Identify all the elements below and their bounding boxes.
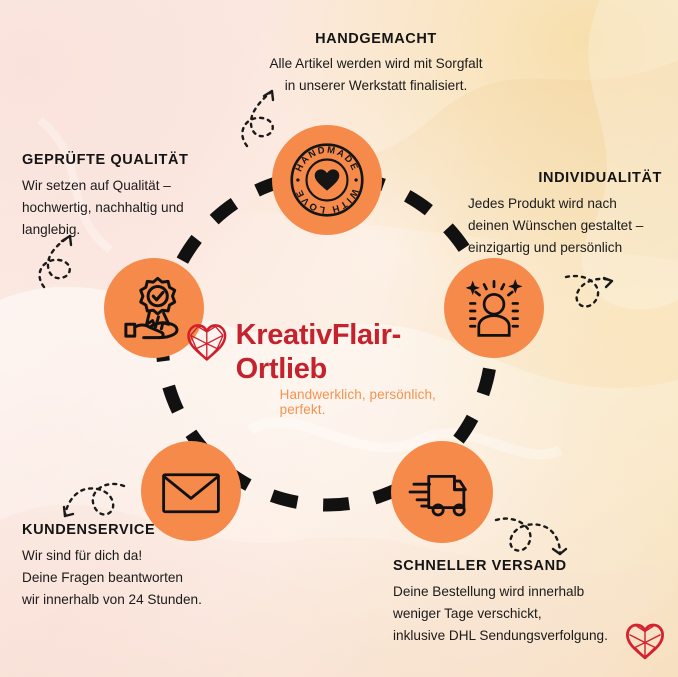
feature-text-gepruefte-qualitaet: GEPRÜFTE QUALITÄT Wir setzen auf Qualitä…	[22, 152, 252, 241]
badge-bottom-text: WITH LOVE	[293, 187, 361, 216]
infographic-canvas: HANDMADE WITH LOVE	[0, 0, 678, 677]
envelope-icon	[154, 454, 228, 528]
doodle-arrow-qualitaet	[40, 236, 70, 287]
feature-line: Wir setzen auf Qualität –	[22, 175, 252, 197]
feature-circle-handgemacht[interactable]: HANDMADE WITH LOVE	[272, 125, 382, 235]
feature-line: Wir sind für dich da!	[22, 545, 272, 567]
feature-circle-individualitaet[interactable]	[444, 258, 544, 358]
arrowhead-kundenservice	[64, 507, 73, 516]
feature-title-individualitaet: INDIVIDUALITÄT	[468, 170, 662, 186]
delivery-truck-icon	[403, 453, 481, 531]
arrowhead-individualitaet	[604, 278, 612, 287]
feature-text-handgemacht: HANDGEMACHT Alle Artikel werden wird mit…	[252, 31, 552, 97]
doodle-arrow-handgemacht	[242, 91, 272, 146]
hand-holding-quality-badge-icon	[117, 271, 191, 345]
doodle-arrow-individualitaet	[566, 276, 612, 307]
geometric-heart-watermark-icon	[625, 622, 665, 660]
feature-line: Jedes Produkt wird nach	[468, 193, 668, 215]
doodle-arrow-kundenservice	[65, 484, 124, 516]
feature-title-schneller-versand: SCHNELLER VERSAND	[393, 558, 673, 574]
arrowhead-versand	[553, 549, 566, 554]
feature-title-gepruefte-qualitaet: GEPRÜFTE QUALITÄT	[22, 152, 252, 168]
feature-line: wir innerhalb von 24 Stunden.	[22, 589, 272, 611]
feature-line: Alle Artikel werden wird mit Sorgfalt	[252, 53, 500, 75]
feature-title-kundenservice: KUNDENSERVICE	[22, 522, 272, 538]
badge-top-text: HANDMADE	[293, 144, 362, 173]
brand-tagline: Handwerklich, persönlich, perfekt.	[280, 387, 458, 417]
heart-icon	[315, 169, 340, 190]
watermark-logo	[625, 622, 665, 665]
doodle-arrow-versand	[496, 519, 560, 554]
geometric-heart-icon	[186, 320, 228, 364]
feature-circle-schneller-versand[interactable]	[391, 441, 493, 543]
person-with-sparkles-icon	[456, 270, 532, 346]
handmade-with-love-stamp-icon: HANDMADE WITH LOVE	[286, 139, 368, 221]
svg-text:WITH LOVE: WITH LOVE	[293, 187, 361, 216]
feature-line: einzigartig und persönlich	[468, 237, 668, 259]
brand-logo[interactable]: KreativFlair-Ortlieb Handwerklich, persö…	[186, 316, 458, 380]
feature-text-individualitaet: INDIVIDUALITÄT Jedes Produkt wird nach d…	[468, 170, 678, 259]
feature-line: deinen Wünschen gestaltet –	[468, 215, 668, 237]
feature-line: in unserer Werkstatt finalisiert.	[252, 75, 500, 97]
feature-title-handgemacht: HANDGEMACHT	[252, 31, 500, 47]
feature-line: langlebig.	[22, 219, 252, 241]
svg-text:HANDMADE: HANDMADE	[293, 144, 362, 173]
feature-line: Deine Fragen beantworten	[22, 567, 272, 589]
brand-name: KreativFlair-Ortlieb	[236, 318, 458, 386]
feature-text-kundenservice: KUNDENSERVICE Wir sind für dich da! Dein…	[22, 522, 272, 611]
feature-line: Deine Bestellung wird innerhalb	[393, 581, 673, 603]
feature-line: hochwertig, nachhaltig und	[22, 197, 252, 219]
